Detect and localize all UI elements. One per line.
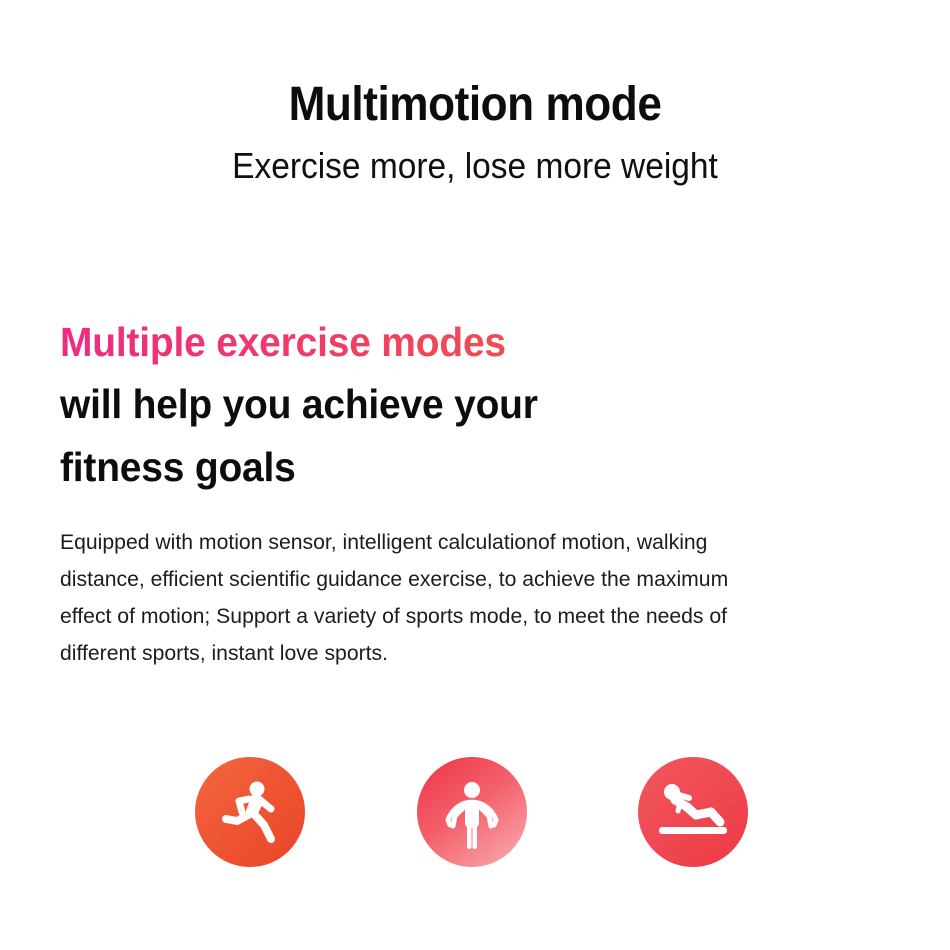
page-subtitle: Exercise more, lose more weight bbox=[33, 144, 917, 187]
body-line-4: different sports, instant love sports. bbox=[60, 635, 881, 672]
body-line-1: Equipped with motion sensor, intelligent… bbox=[60, 524, 881, 561]
body-line-2: distance, efficient scientific guidance … bbox=[60, 561, 881, 598]
sit-up-icon-badge bbox=[638, 757, 748, 867]
sport-mode-icon-row bbox=[0, 757, 950, 872]
header: Multimotion mode Exercise more, lose mor… bbox=[0, 78, 950, 187]
headline-line-2: will help you achieve your bbox=[60, 373, 849, 435]
headline-block: Multiple exercise modes will help you ac… bbox=[60, 311, 890, 498]
product-feature-page: Multimotion mode Exercise more, lose mor… bbox=[0, 0, 950, 950]
body-paragraph: Equipped with motion sensor, intelligent… bbox=[60, 524, 894, 672]
body-line-3: effect of motion; Support a variety of s… bbox=[60, 598, 881, 635]
headline-line-3: fitness goals bbox=[60, 436, 849, 498]
jump-rope-icon-badge bbox=[417, 757, 527, 867]
jump-rope-icon bbox=[417, 757, 527, 867]
sit-up-icon bbox=[638, 757, 748, 867]
page-title: Multimotion mode bbox=[38, 78, 912, 132]
running-icon-badge bbox=[195, 757, 305, 867]
headline-accent-line: Multiple exercise modes bbox=[60, 311, 849, 373]
running-icon bbox=[195, 757, 305, 867]
